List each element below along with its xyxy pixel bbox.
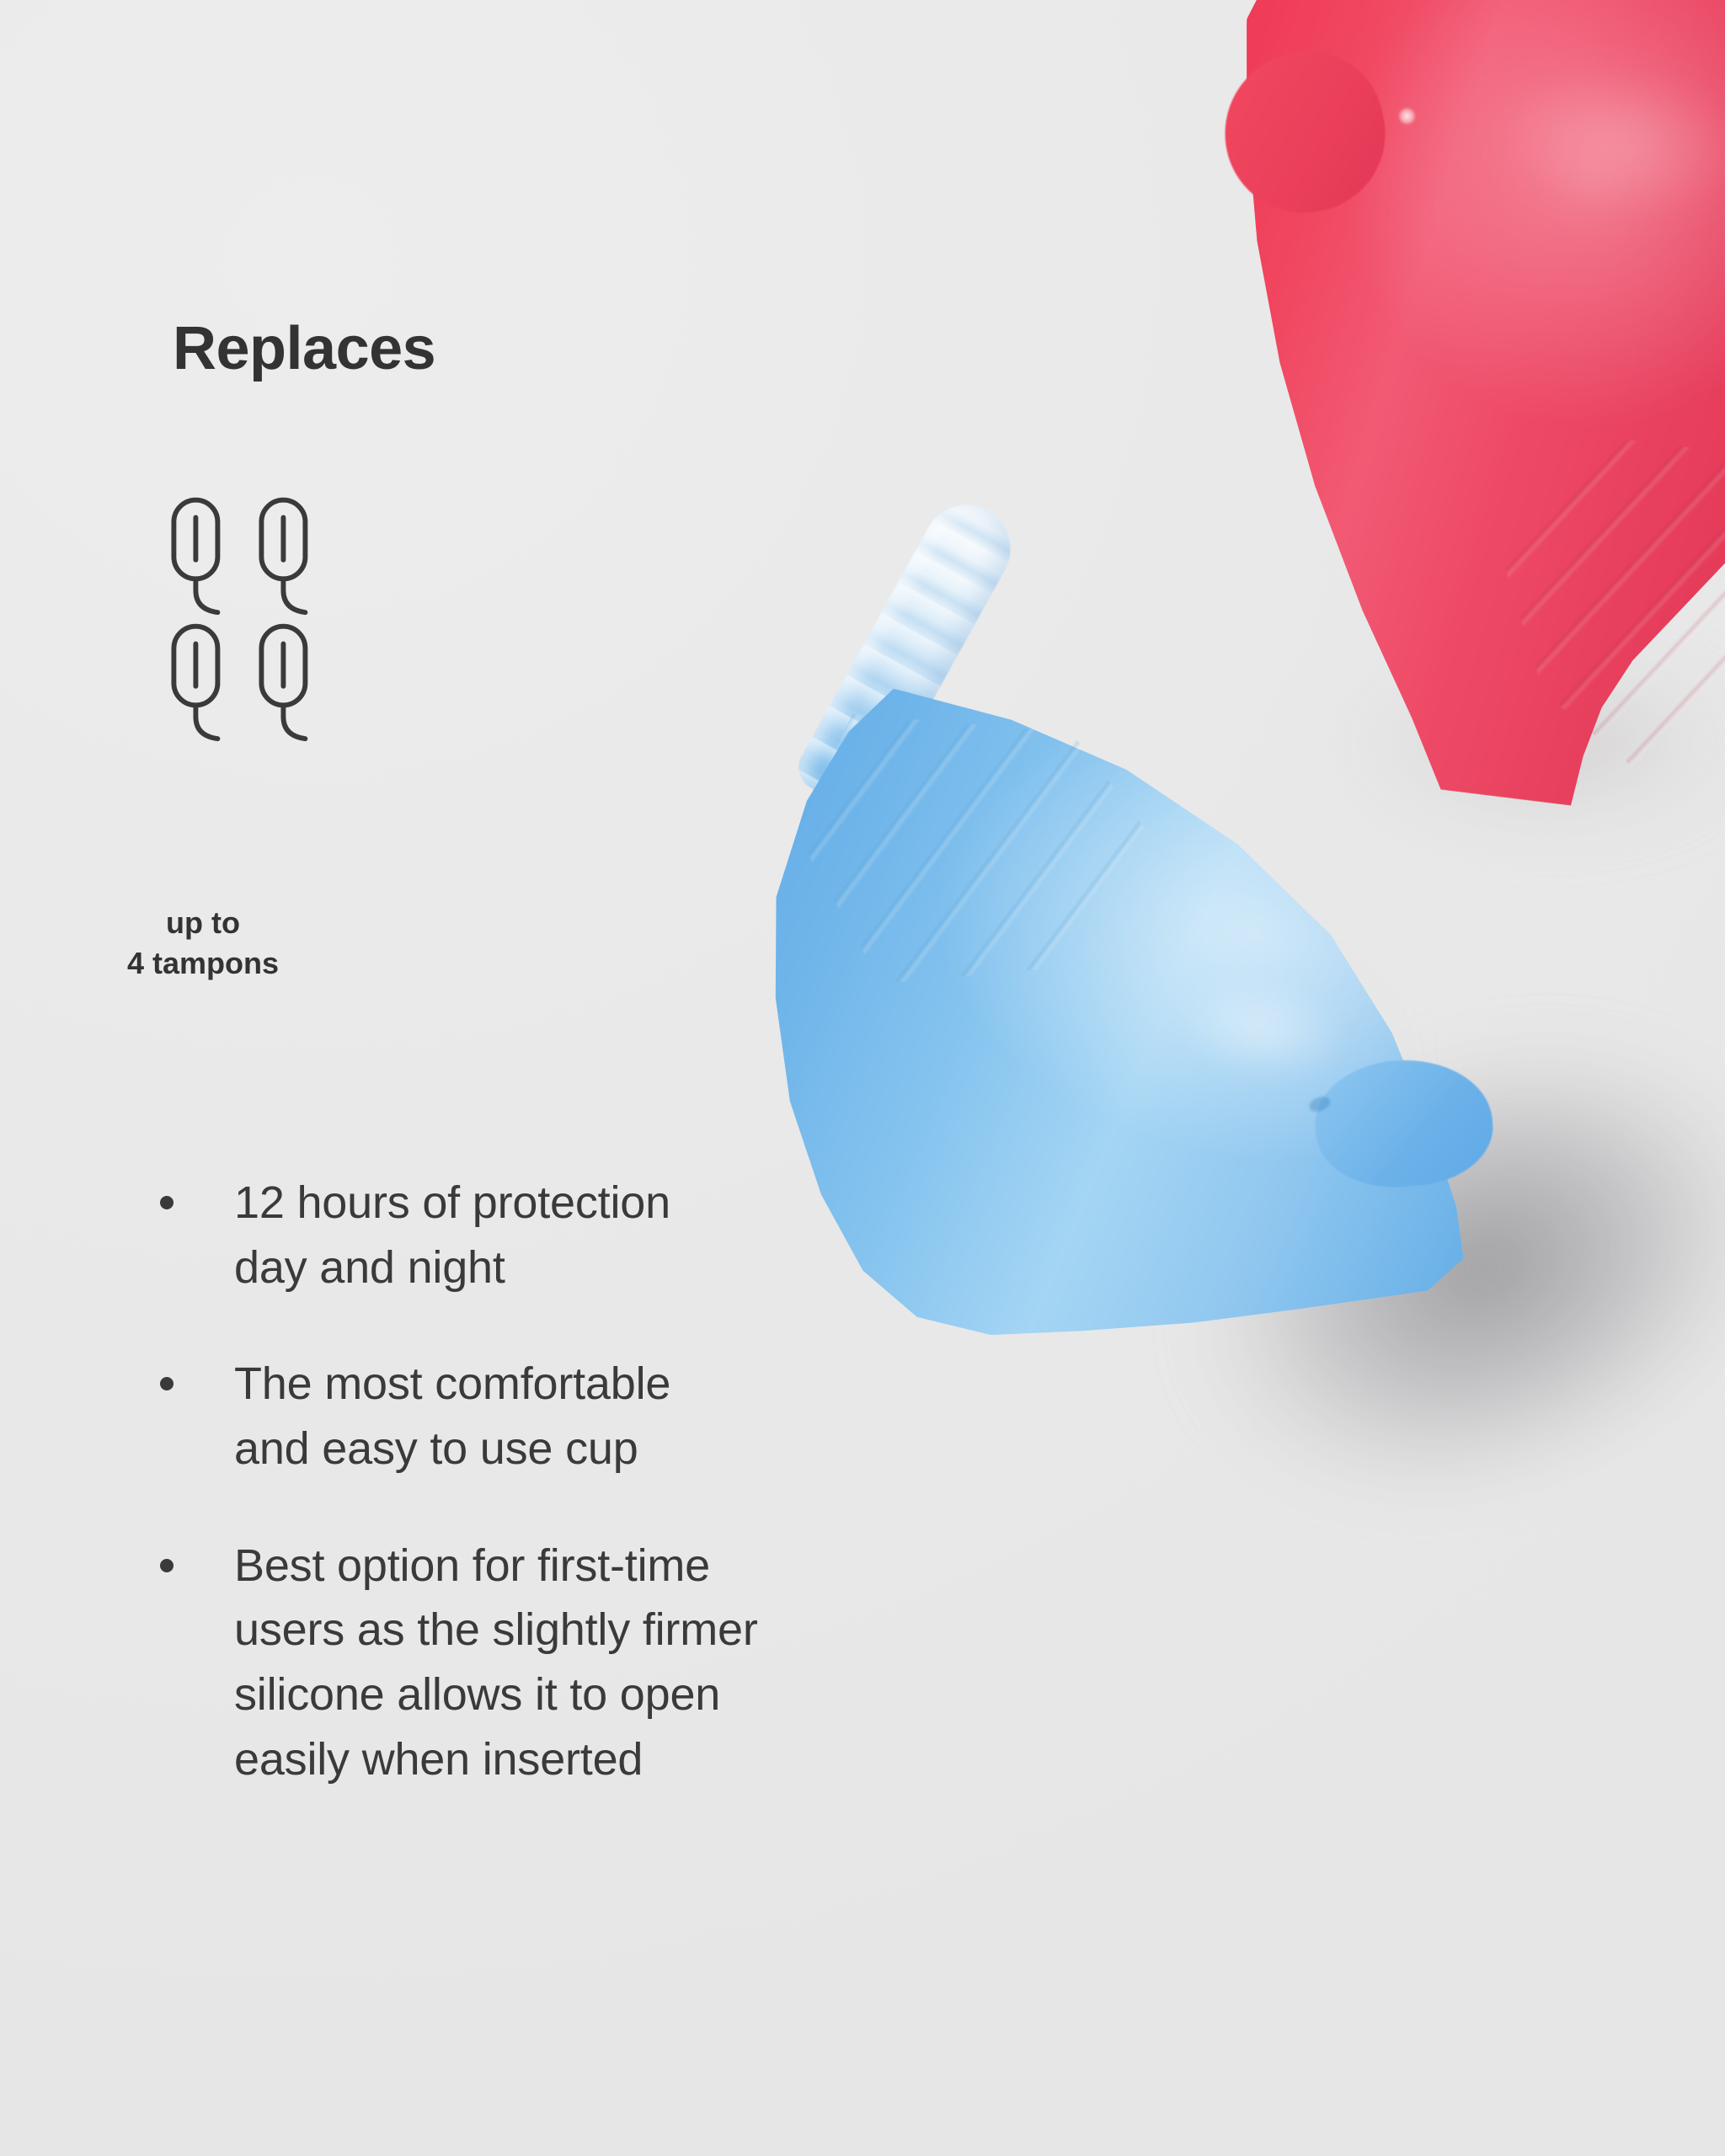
replaces-caption-line-1: up to (81, 903, 325, 943)
list-item: 12 hours of protection day and night (160, 1171, 1103, 1299)
feature-bullet-text: Best option for first-time users as the … (234, 1534, 758, 1792)
replaces-heading: Replaces (173, 318, 435, 379)
feature-bullet-text: The most comfortable and easy to use cup (234, 1352, 670, 1481)
content-layer: Replaces up t (0, 0, 1725, 2156)
list-item: The most comfortable and easy to use cup (160, 1352, 1103, 1481)
feature-bullet-list: 12 hours of protection day and night The… (160, 1171, 1103, 1791)
bullet-dot-icon (160, 1377, 174, 1390)
bullet-dot-icon (160, 1559, 174, 1572)
tampon-icon (165, 622, 253, 748)
tampon-icon-grid (165, 495, 334, 748)
feature-bullet-text: 12 hours of protection day and night (234, 1171, 670, 1299)
replaces-caption-line-2: 4 tampons (81, 943, 325, 984)
tampon-icon (253, 622, 340, 748)
replaces-caption: up to 4 tampons (81, 903, 325, 983)
product-feature-card: Replaces up t (0, 0, 1725, 2156)
tampon-icon (165, 495, 253, 622)
bullet-dot-icon (160, 1196, 174, 1209)
tampon-icon (253, 495, 340, 622)
list-item: Best option for first-time users as the … (160, 1534, 1103, 1792)
